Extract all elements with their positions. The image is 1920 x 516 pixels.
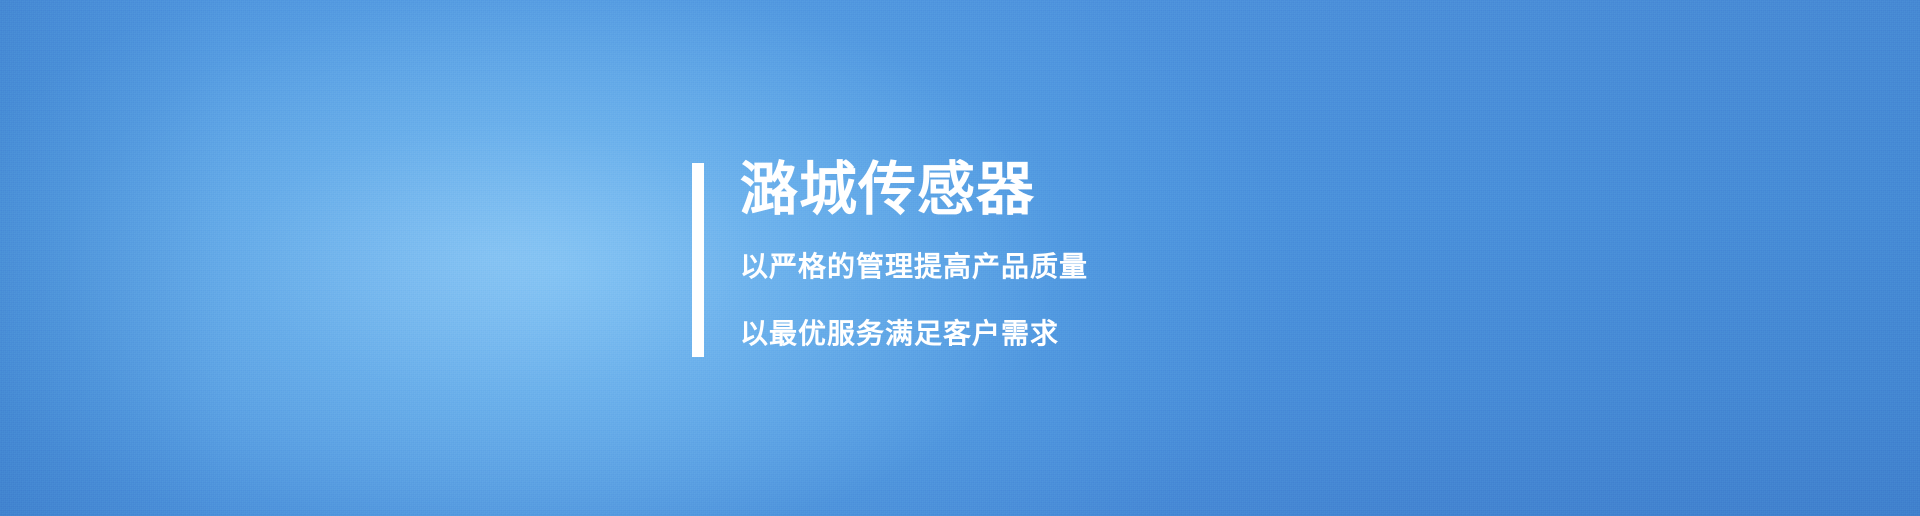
vertical-accent-bar [692,163,704,357]
banner-tagline-2: 以最优服务满足客户需求 [740,320,1088,348]
banner-content: 潞城传感器 以严格的管理提高产品质量 以最优服务满足客户需求 [692,163,1088,357]
banner-text-column: 潞城传感器 以严格的管理提高产品质量 以最优服务满足客户需求 [740,163,1088,357]
banner-tagline-1: 以严格的管理提高产品质量 [740,253,1088,281]
hero-banner: 潞城传感器 以严格的管理提高产品质量 以最优服务满足客户需求 [0,0,1920,516]
banner-headline: 潞城传感器 [740,159,1088,221]
